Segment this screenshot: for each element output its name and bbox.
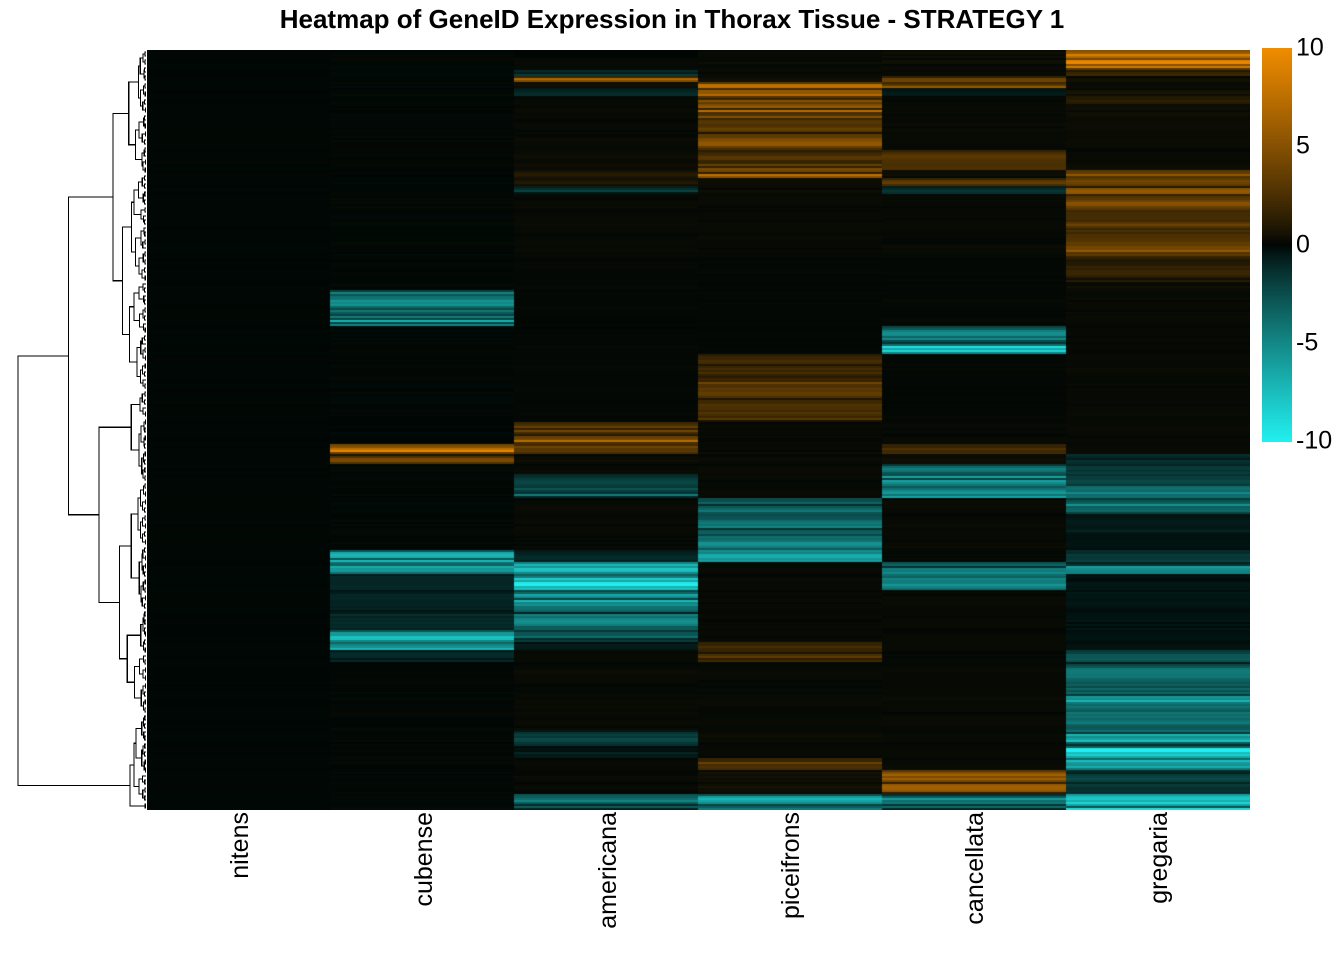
row-dendrogram (8, 50, 148, 810)
row-dendrogram-svg (8, 50, 148, 810)
colorbar-tick-neg5: -5 (1296, 328, 1318, 357)
column-label-nitens: nitens (226, 812, 255, 879)
column-label-americana: americana (594, 812, 623, 929)
heatmap-canvas[interactable] (147, 50, 1250, 810)
column-label-cubense: cubense (410, 812, 439, 907)
heatmap-figure: Heatmap of GeneID Expression in Thorax T… (0, 0, 1344, 960)
colorbar-gradient (1262, 48, 1292, 442)
column-label-cancellata: cancellata (961, 812, 990, 925)
colorbar-tick-5: 5 (1296, 132, 1310, 161)
colorbar-tick-0: 0 (1296, 230, 1310, 259)
colorbar (1262, 48, 1292, 442)
column-label-piceifrons: piceifrons (777, 812, 806, 919)
column-label-gregaria: gregaria (1145, 812, 1174, 904)
colorbar-tick-10: 10 (1296, 34, 1324, 63)
column-labels: nitens cubense americana piceifrons canc… (147, 812, 1250, 960)
colorbar-ticks: 10 5 0 -5 -10 (1296, 48, 1344, 442)
colorbar-tick-neg10: -10 (1296, 427, 1332, 456)
dendrogram-branches (18, 52, 146, 808)
heatmap-grid[interactable] (147, 50, 1250, 810)
page-title: Heatmap of GeneID Expression in Thorax T… (0, 4, 1344, 35)
